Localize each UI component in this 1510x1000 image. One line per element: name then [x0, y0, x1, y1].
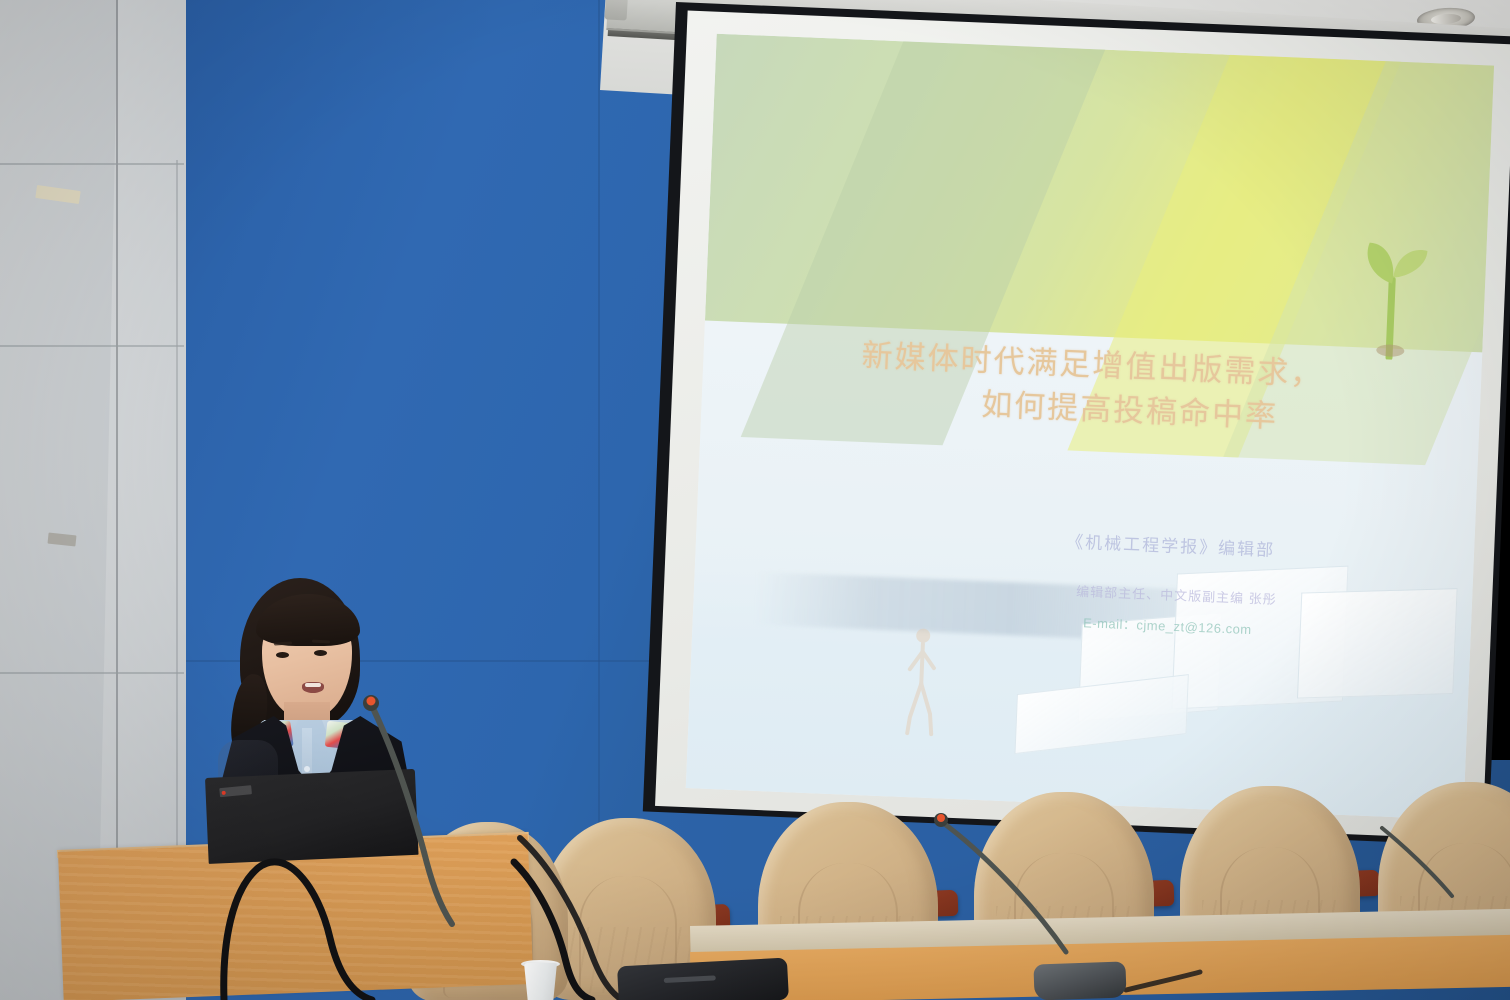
photo-vignette — [0, 0, 1510, 1000]
photo-scene: 新媒体时代满足增值出版需求， 如何提高投稿命中率 《机械工程学报》编辑部 编辑部… — [0, 0, 1510, 1000]
